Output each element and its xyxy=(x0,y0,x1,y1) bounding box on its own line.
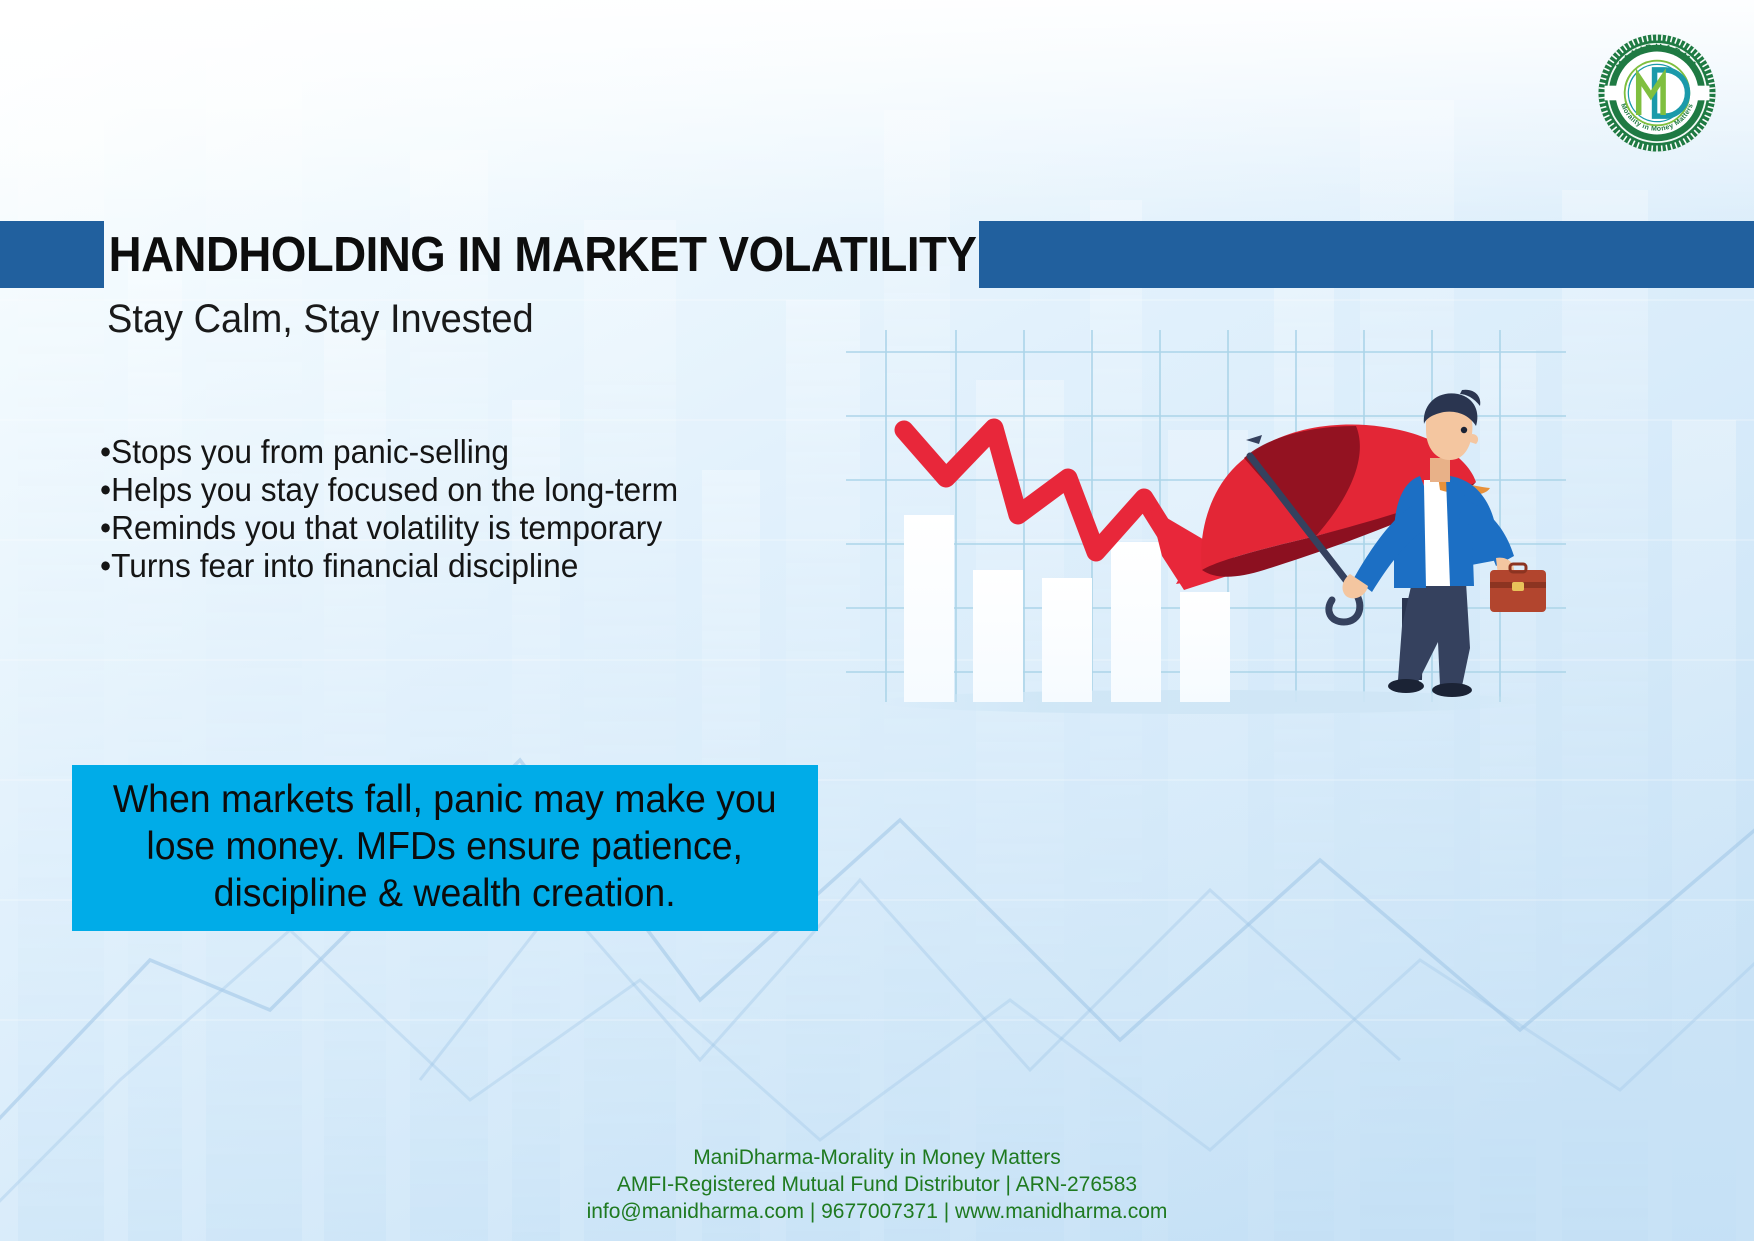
page-title: HANDHOLDING IN MARKET VOLATILITY xyxy=(104,221,918,288)
market-volatility-illustration xyxy=(846,330,1566,725)
footer-line-contact[interactable]: info@manidharma.com | 9677007371 | www.m… xyxy=(0,1198,1754,1225)
neck xyxy=(1430,458,1450,482)
footer-line-brand: ManiDharma-Morality in Money Matters xyxy=(0,1144,1754,1171)
list-item: •Helps you stay focused on the long-term xyxy=(100,472,772,508)
highlight-callout: When markets fall, panic may make you lo… xyxy=(72,765,818,931)
bar-2 xyxy=(973,570,1023,702)
callout-line: discipline & wealth creation. xyxy=(214,870,676,917)
eye xyxy=(1461,427,1467,433)
list-item: •Reminds you that volatility is temporar… xyxy=(100,510,772,546)
bar-1 xyxy=(904,515,954,702)
bar-4 xyxy=(1111,542,1161,702)
briefcase-lock xyxy=(1512,582,1524,591)
trousers xyxy=(1398,582,1470,686)
callout-line: When markets fall, panic may make you xyxy=(113,776,777,823)
list-item: •Stops you from panic-selling xyxy=(100,434,772,470)
bar-3 xyxy=(1042,578,1092,702)
bar-5 xyxy=(1180,592,1230,702)
title-accent-right xyxy=(979,221,1754,288)
manidharma-logo: MANIDHARMA Morality in Money Matters xyxy=(1596,32,1718,154)
shoe-back xyxy=(1388,679,1424,693)
footer-line-arn: AMFI-Registered Mutual Fund Distributor … xyxy=(0,1171,1754,1198)
list-item: •Turns fear into financial discipline xyxy=(100,548,772,584)
title-band: HANDHOLDING IN MARKET VOLATILITY xyxy=(0,221,1754,288)
page-subtitle: Stay Calm, Stay Invested xyxy=(107,297,534,342)
benefits-list: •Stops you from panic-selling •Helps you… xyxy=(100,434,800,586)
footer: ManiDharma-Morality in Money Matters AMF… xyxy=(0,1144,1754,1225)
title-accent-left xyxy=(0,221,104,288)
poster-canvas: MANIDHARMA Morality in Money Matters HAN… xyxy=(0,0,1754,1241)
callout-line: lose money. MFDs ensure patience, xyxy=(147,823,744,870)
shoe-front xyxy=(1432,683,1472,697)
